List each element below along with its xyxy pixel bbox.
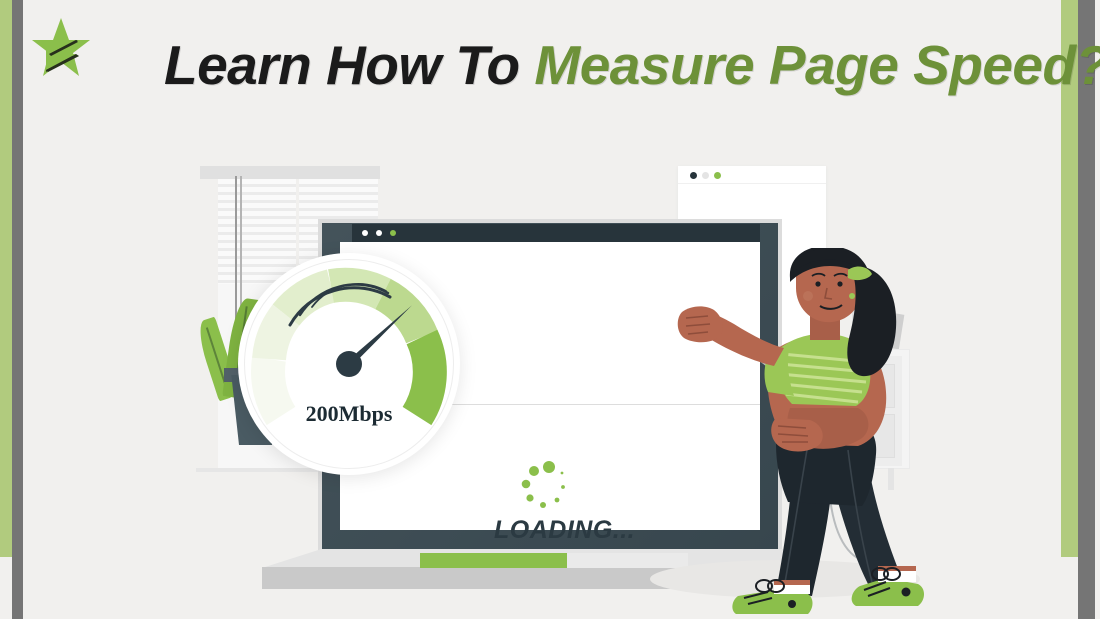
gauge-value-label: 200Mbps <box>238 401 460 427</box>
laptop-dot-1 <box>362 230 368 236</box>
blinds-rail <box>200 166 380 179</box>
progress-bar-fill <box>420 553 567 568</box>
speedometer-gauge: 200Mbps <box>238 253 460 475</box>
back-window-dot-1 <box>690 172 697 179</box>
illustration-scene: LOADING... <box>0 120 1100 619</box>
laptop-dot-3 <box>390 230 396 236</box>
title-dark-part: Learn How To <box>164 34 534 96</box>
gauge-needle-hub <box>336 351 362 377</box>
loading-label: LOADING... <box>494 516 635 545</box>
poster-canvas: Learn How To Measure Page Speed? <box>0 0 1100 619</box>
laptop-browser-titlebar <box>352 224 760 242</box>
page-title: Learn How To Measure Page Speed? <box>164 33 1100 97</box>
background-browser-titlebar <box>678 166 826 184</box>
title-green-part: Measure Page Speed? <box>534 34 1100 96</box>
laptop-dot-2 <box>376 230 382 236</box>
back-window-dot-2 <box>702 172 709 179</box>
back-window-dot-3 <box>714 172 721 179</box>
star-logo <box>32 16 90 80</box>
loading-spinner <box>516 459 572 515</box>
